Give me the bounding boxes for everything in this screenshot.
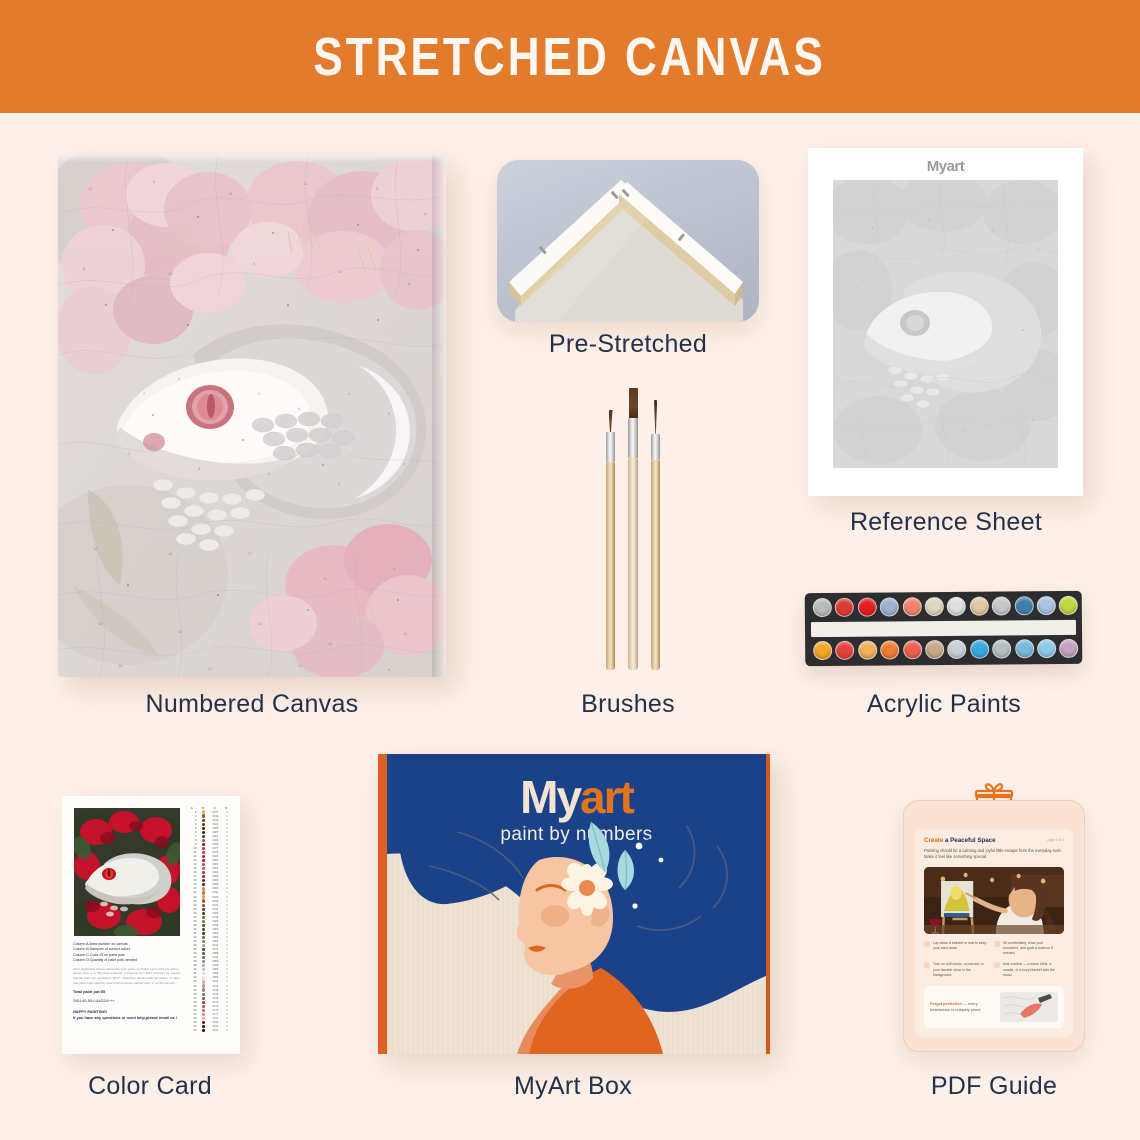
color-swatch	[202, 956, 205, 959]
color-swatch	[202, 916, 205, 919]
color-swatch	[202, 1005, 205, 1008]
color-card-row: 3910081	[186, 964, 232, 968]
color-card-table-body: 1001712001813001914002115008516008717002…	[186, 810, 232, 1033]
caption-brushes: Brushes	[581, 690, 675, 719]
stretcher-frame-illustration	[497, 160, 759, 322]
row-color-id: 0090	[209, 879, 222, 882]
color-swatch	[202, 867, 205, 870]
color-swatch	[202, 936, 205, 939]
row-color-sample	[198, 997, 210, 1000]
row-area-number: 15	[186, 867, 198, 870]
color-swatch	[202, 1029, 205, 1032]
row-color-id: 1008	[209, 964, 222, 967]
row-quantity: 1	[222, 1017, 232, 1020]
row-color-id: 0014	[209, 944, 222, 947]
row-color-sample	[198, 976, 210, 979]
color-card-row: 100171	[186, 810, 232, 814]
row-color-sample	[198, 1013, 210, 1016]
row-quantity: 1	[222, 847, 232, 850]
color-card-row: 1300911	[186, 859, 232, 863]
row-area-number: 38	[186, 960, 198, 963]
row-color-id: 2176	[209, 1009, 222, 1012]
row-area-number: 20	[186, 887, 198, 890]
row-area-number: 46	[186, 993, 198, 996]
color-swatch	[202, 875, 205, 878]
color-swatch	[202, 940, 205, 943]
row-quantity: 1	[222, 815, 232, 818]
color-swatch	[202, 855, 205, 858]
row-area-number: 51	[186, 1013, 198, 1016]
row-quantity: 1	[222, 827, 232, 830]
row-color-sample	[198, 879, 210, 882]
row-quantity: 1	[222, 968, 232, 971]
row-color-id: 0145	[209, 997, 222, 1000]
pdf-guide-body: Painting should be a calming and joyful …	[924, 848, 1064, 861]
box-right-spine	[766, 754, 770, 1054]
col-a: A	[186, 806, 198, 810]
paint-pot	[858, 598, 877, 617]
color-swatch	[202, 952, 205, 955]
row-area-number: 11	[186, 851, 198, 854]
row-color-id: 0154	[209, 993, 222, 996]
row-quantity: 1	[222, 1025, 232, 1028]
color-card-row: 3600881	[186, 952, 232, 956]
row-area-number: 9	[186, 843, 198, 846]
row-color-sample	[198, 1005, 210, 1008]
color-swatch	[202, 988, 205, 991]
pdf-guide-note: Forget perfection — every brushstroke is…	[924, 986, 1064, 1028]
row-quantity: 1	[222, 972, 232, 975]
row-area-number: 23	[186, 900, 198, 903]
row-color-sample	[198, 843, 210, 846]
svg-text:12: 12	[403, 631, 408, 636]
tip-text: Sit comfortably, relax your shoulders, a…	[1003, 941, 1060, 957]
svg-text:16: 16	[168, 551, 173, 556]
color-card-row: 3000631	[186, 927, 232, 931]
row-quantity: 1	[222, 952, 232, 955]
row-quantity: 1	[222, 1005, 232, 1008]
row-area-number: 14	[186, 863, 198, 866]
row-color-sample	[198, 851, 210, 854]
row-area-number: 41	[186, 972, 198, 975]
color-card-row: 700241	[186, 834, 232, 838]
svg-text:18: 18	[98, 621, 103, 626]
row-quantity: 1	[222, 976, 232, 979]
row-color-sample	[198, 839, 210, 842]
paint-pot	[1059, 596, 1078, 615]
color-swatch	[202, 968, 205, 971]
row-color-sample	[198, 936, 210, 939]
row-color-sample	[198, 928, 210, 931]
canvas-top-edge	[58, 155, 446, 162]
svg-text:14: 14	[228, 191, 233, 196]
row-quantity: 1	[222, 887, 232, 890]
row-color-id: 0511	[209, 1029, 222, 1032]
color-swatch	[202, 883, 205, 886]
tip-icon	[924, 941, 930, 947]
caption-acrylic-paints: Acrylic Paints	[867, 690, 1021, 719]
color-card-row: 400211	[186, 822, 232, 826]
row-area-number: 35	[186, 948, 198, 951]
row-color-id: 0050	[209, 932, 222, 935]
row-color-id: 0171	[209, 1005, 222, 1008]
row-color-sample	[198, 912, 210, 915]
svg-text:18: 18	[118, 663, 123, 668]
row-color-sample	[198, 1009, 210, 1012]
row-color-sample	[198, 956, 210, 959]
row-quantity: 1	[222, 956, 232, 959]
paint-pot-row-bottom	[805, 591, 1082, 593]
caption-reference-sheet: Reference Sheet	[850, 508, 1042, 537]
row-area-number: 47	[186, 997, 198, 1000]
color-card-happy: HAPPY PAINTING!	[73, 1009, 183, 1014]
color-swatch	[202, 835, 205, 838]
row-quantity: 1	[222, 989, 232, 992]
row-area-number: 31	[186, 932, 198, 935]
caption-pdf-guide: PDF Guide	[931, 1072, 1057, 1101]
row-color-id: 0088	[209, 952, 222, 955]
paint-pot	[902, 597, 921, 616]
color-swatch	[202, 887, 205, 890]
row-area-number: 40	[186, 968, 198, 971]
color-card-row: 2900461	[186, 923, 232, 927]
color-card-row: 4601541	[186, 992, 232, 996]
color-swatch	[202, 899, 205, 902]
row-color-id: 0065	[209, 940, 222, 943]
paint-pot	[858, 641, 877, 660]
color-card-row: 3200641	[186, 935, 232, 939]
color-card-total: Total paint pot:55	[73, 989, 183, 994]
color-card-row: 5303351	[186, 1020, 232, 1024]
svg-text:14: 14	[168, 271, 173, 276]
col-b: B	[198, 806, 210, 810]
row-color-id: 0021	[209, 823, 222, 826]
tip-icon	[994, 941, 1000, 947]
row-color-sample	[198, 940, 210, 943]
color-card-row: 5217911	[186, 1016, 232, 1020]
row-color-sample	[198, 895, 210, 898]
color-swatch	[202, 976, 205, 979]
pdf-note-accent: Forget perfection	[930, 1001, 962, 1006]
row-color-sample	[198, 988, 210, 991]
row-color-id: 2005	[209, 976, 222, 979]
paint-pot	[925, 640, 944, 659]
row-color-sample	[198, 904, 210, 907]
color-card-row: 200181	[186, 814, 232, 818]
row-color-sample	[198, 924, 210, 927]
row-color-sample	[198, 863, 210, 866]
row-color-sample	[198, 1029, 210, 1032]
pdf-photo-illustration	[924, 867, 1064, 934]
row-quantity: 1	[222, 863, 232, 866]
pdf-tip-item: Lay down a blanket or mat to keep your a…	[924, 941, 994, 957]
row-quantity: 1	[222, 985, 232, 988]
row-color-sample	[198, 1021, 210, 1024]
color-swatch	[202, 814, 205, 817]
color-card-row: 2204201	[186, 895, 232, 899]
pdf-guide-image: page 1 of 1 Create a Peaceful Space Pain…	[903, 800, 1085, 1052]
row-color-sample	[198, 980, 210, 983]
svg-text:12: 12	[88, 186, 93, 191]
color-card-row: 1600441	[186, 871, 232, 875]
color-swatch	[202, 972, 205, 975]
paint-pot	[880, 597, 899, 616]
row-quantity: 1	[222, 871, 232, 874]
row-color-sample	[198, 819, 210, 822]
row-quantity: 1	[222, 851, 232, 854]
row-color-id: 0448	[209, 916, 222, 919]
row-color-id: 0098	[209, 883, 222, 886]
row-color-id: 0044	[209, 871, 222, 874]
color-card-row: 3808601	[186, 960, 232, 964]
paint-pot	[970, 597, 989, 616]
row-color-id: 0011	[209, 956, 222, 959]
row-quantity: 1	[222, 819, 232, 822]
pdf-guide-photo	[924, 867, 1064, 934]
row-color-id: 0087	[209, 831, 222, 834]
row-quantity: 1	[222, 823, 232, 826]
reference-sheet-logo: Myart	[808, 158, 1083, 175]
pdf-note-thumbnail	[1000, 992, 1058, 1022]
row-area-number: 54	[186, 1025, 198, 1028]
row-color-sample	[198, 908, 210, 911]
color-swatch	[202, 831, 205, 834]
row-color-id: 0019	[209, 819, 222, 822]
color-swatch	[202, 1025, 205, 1028]
paint-pot	[903, 640, 922, 659]
color-card-row: 300191	[186, 818, 232, 822]
row-color-sample	[198, 835, 210, 838]
color-swatch	[202, 891, 205, 894]
row-quantity: 1	[222, 920, 232, 923]
color-swatch	[202, 863, 205, 866]
reference-sheet-artwork	[833, 180, 1058, 468]
row-area-number: 50	[186, 1009, 198, 1012]
row-area-number: 42	[186, 976, 198, 979]
color-card-table-header: A B C D	[186, 806, 232, 810]
color-card-row: 4120061	[186, 972, 232, 976]
row-area-number: 33	[186, 940, 198, 943]
color-swatch	[202, 823, 205, 826]
color-card-row: 4010061	[186, 968, 232, 972]
box-front-face: Myart paint by numbers	[387, 754, 766, 1054]
row-color-id: 0096	[209, 855, 222, 858]
row-quantity: 1	[222, 964, 232, 967]
row-area-number: 22	[186, 896, 198, 899]
row-quantity: 1	[222, 940, 232, 943]
paint-pot	[1059, 639, 1078, 658]
pdf-title-accent: Create	[924, 837, 943, 844]
box-illustration	[387, 754, 766, 1054]
row-color-sample	[198, 867, 210, 870]
row-area-number: 21	[186, 891, 198, 894]
row-area-number: 16	[186, 871, 198, 874]
row-color-id: 0433	[209, 900, 222, 903]
reference-artwork-svg	[833, 180, 1058, 468]
paint-pot	[1037, 639, 1056, 658]
col-d: D	[221, 806, 233, 810]
color-card-row: 3300651	[186, 940, 232, 944]
row-color-id: 0420	[209, 896, 222, 899]
color-card-photo	[74, 808, 180, 936]
row-quantity: 1	[222, 1013, 232, 1016]
row-quantity: 1	[222, 891, 232, 894]
color-card-row: 5403401	[186, 1024, 232, 1028]
row-area-number: 48	[186, 1001, 198, 1004]
row-color-id: 0030	[209, 843, 222, 846]
color-card-row: 5121771	[186, 1012, 232, 1016]
color-card-table: A B C D 10017120018130019140021150085160…	[186, 806, 232, 1033]
row-area-number: 29	[186, 924, 198, 927]
paint-pot	[835, 641, 854, 660]
color-card-row: 1800901	[186, 879, 232, 883]
row-quantity: 1	[222, 839, 232, 842]
box-left-spine	[378, 754, 387, 1054]
row-color-sample	[198, 871, 210, 874]
row-color-id: 0485	[209, 912, 222, 915]
color-card-row: 1900981	[186, 883, 232, 887]
row-color-sample	[198, 831, 210, 834]
row-color-id: 0148	[209, 989, 222, 992]
row-color-id: 0054	[209, 867, 222, 870]
row-quantity: 1	[222, 867, 232, 870]
row-color-id: 0434	[209, 904, 222, 907]
paint-pot	[947, 640, 966, 659]
brush-round-small	[606, 410, 615, 670]
product-infographic: STRETCHED CANVAS	[0, 0, 1140, 1140]
row-area-number: 4	[186, 823, 198, 826]
row-color-sample	[198, 859, 210, 862]
color-card-fine-print: when applicable,please follow this color…	[73, 967, 183, 986]
row-color-sample	[198, 916, 210, 919]
row-quantity: 1	[222, 997, 232, 1000]
color-card-contact: If you have any questions or need help,p…	[73, 1015, 183, 1020]
color-swatch	[202, 871, 205, 874]
row-area-number: 19	[186, 883, 198, 886]
row-color-sample	[198, 944, 210, 947]
row-color-id: 1791	[209, 1017, 222, 1020]
row-area-number: 49	[186, 1005, 198, 1008]
color-card-row: 1700551	[186, 875, 232, 879]
row-quantity: 1	[222, 912, 232, 915]
col-c: C	[209, 806, 221, 810]
row-area-number: 55	[186, 1029, 198, 1032]
row-color-sample	[198, 823, 210, 826]
color-swatch	[202, 964, 205, 967]
row-color-id: 0091	[209, 859, 222, 862]
legend-line-d: Column D:Quantity of paint pots needed	[73, 958, 183, 963]
color-card-row: 1000771	[186, 846, 232, 850]
color-swatch	[202, 928, 205, 931]
row-area-number: 13	[186, 859, 198, 862]
row-quantity: 1	[222, 843, 232, 846]
color-swatch	[202, 859, 205, 862]
color-card-image: Column A:Area number on canvas Column B:…	[62, 796, 240, 1054]
caption-color-card: Color Card	[88, 1072, 212, 1101]
header-banner: STRETCHED CANVAS	[0, 0, 1140, 113]
row-color-id: 0025	[209, 920, 222, 923]
row-color-id: 1006	[209, 968, 222, 971]
pdf-guide-page: page 1 of 1 Create a Peaceful Space Pain…	[915, 829, 1073, 1037]
row-area-number: 37	[186, 956, 198, 959]
color-card-row: 4220051	[186, 976, 232, 980]
svg-text:16: 16	[178, 629, 183, 634]
numbered-canvas-image: 12914 11912 8149 118 235 645 236 54 1816…	[58, 155, 446, 677]
row-quantity: 1	[222, 879, 232, 882]
color-card-legend: Column A:Area number on canvas Column B:…	[73, 942, 183, 1020]
row-color-sample	[198, 891, 210, 894]
row-quantity: 1	[222, 896, 232, 899]
color-swatch	[202, 912, 205, 915]
row-area-number: 18	[186, 879, 198, 882]
row-area-number: 43	[186, 980, 198, 983]
row-color-id: 0014	[209, 985, 222, 988]
row-color-id: 0860	[209, 960, 222, 963]
color-swatch	[202, 819, 205, 822]
row-area-number: 6	[186, 831, 198, 834]
reference-sheet-image: Myart	[808, 148, 1083, 496]
row-quantity: 1	[222, 904, 232, 907]
color-swatch	[202, 904, 205, 907]
row-color-id: 0170	[209, 1001, 222, 1004]
row-quantity: 1	[222, 831, 232, 834]
paint-pot	[1015, 639, 1034, 658]
svg-text:10: 10	[328, 641, 333, 646]
row-quantity: 1	[222, 936, 232, 939]
row-area-number: 17	[186, 875, 198, 878]
row-color-id: 0011	[209, 980, 222, 983]
row-color-id: 0411	[209, 891, 222, 894]
brush-flat	[628, 388, 638, 670]
row-quantity: 1	[222, 859, 232, 862]
pdf-note-text: Forget perfection — every brushstroke is…	[930, 1001, 995, 1013]
row-area-number: 53	[186, 1021, 198, 1024]
row-area-number: 45	[186, 989, 198, 992]
paint-pot	[1037, 596, 1056, 615]
row-color-sample	[198, 932, 210, 935]
brush-liner	[651, 400, 660, 670]
color-swatch	[202, 908, 205, 911]
row-color-id: 0046	[209, 924, 222, 927]
row-quantity: 1	[222, 944, 232, 947]
caption-numbered-canvas: Numbered Canvas	[146, 690, 359, 719]
row-quantity: 1	[222, 835, 232, 838]
row-area-number: 34	[186, 944, 198, 947]
color-card-row: 5021761	[186, 1008, 232, 1012]
row-color-id: 2177	[209, 1013, 222, 1016]
color-swatch	[202, 1001, 205, 1004]
color-swatch	[202, 847, 205, 850]
color-card-row: 4901711	[186, 1004, 232, 1008]
color-card-row: 2404341	[186, 903, 232, 907]
paint-tray-label-strip	[811, 620, 1076, 637]
row-color-sample	[198, 968, 210, 971]
pdf-guide-tips: Lay down a blanket or mat to keep your a…	[924, 941, 1064, 985]
color-swatch	[202, 960, 205, 963]
paint-pot	[992, 596, 1011, 615]
row-area-number: 39	[186, 964, 198, 967]
svg-text:12: 12	[423, 211, 428, 216]
row-color-id: 0072	[209, 948, 222, 951]
color-swatch	[202, 827, 205, 830]
row-area-number: 32	[186, 936, 198, 939]
color-card-row: 4400141	[186, 984, 232, 988]
color-card-row: 2304331	[186, 899, 232, 903]
row-quantity: 1	[222, 1021, 232, 1024]
caption-myart-box: MyArt Box	[514, 1072, 632, 1101]
row-color-id: 0085	[209, 827, 222, 830]
color-swatch	[202, 920, 205, 923]
